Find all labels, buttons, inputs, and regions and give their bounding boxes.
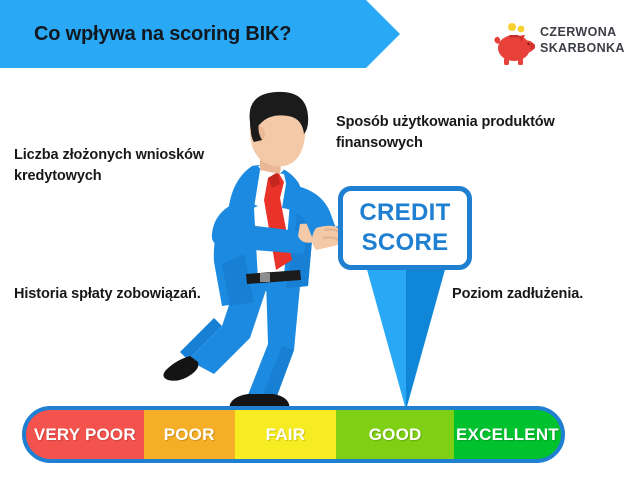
gauge-segment-very-poor: VERY POOR xyxy=(26,410,144,459)
gauge-segment-excellent: EXCELLENT xyxy=(454,410,561,459)
label-product-usage: Sposób użytkowania produktów finansowych xyxy=(336,112,606,154)
businessman-illustration xyxy=(118,88,368,408)
brand-name-line1: CZERWONA xyxy=(540,24,625,40)
gauge-segment-poor: POOR xyxy=(144,410,235,459)
piggy-bank-icon xyxy=(492,18,538,66)
gauge-segment-fair: FAIR xyxy=(235,410,337,459)
credit-score-plate: CREDIT SCORE xyxy=(338,186,472,270)
gauge-segment-good: GOOD xyxy=(336,410,454,459)
credit-score-line1: CREDIT xyxy=(359,198,450,228)
infographic-canvas: Co wpływa na scoring BIK? CZERWONA SKARB… xyxy=(0,0,640,480)
page-title: Co wpływa na scoring BIK? xyxy=(34,20,374,48)
brand-name-line2: SKARBONKA xyxy=(540,40,625,56)
credit-score-line2: SCORE xyxy=(362,228,449,258)
label-debt-level: Poziom zadłużenia. xyxy=(452,284,640,305)
credit-score-sign: CREDIT SCORE xyxy=(332,180,480,410)
brand-logo: CZERWONA SKARBONKA xyxy=(492,18,638,70)
credit-score-gauge: VERY POOR POOR FAIR GOOD EXCELLENT xyxy=(22,406,565,463)
brand-name: CZERWONA SKARBONKA xyxy=(540,24,625,56)
